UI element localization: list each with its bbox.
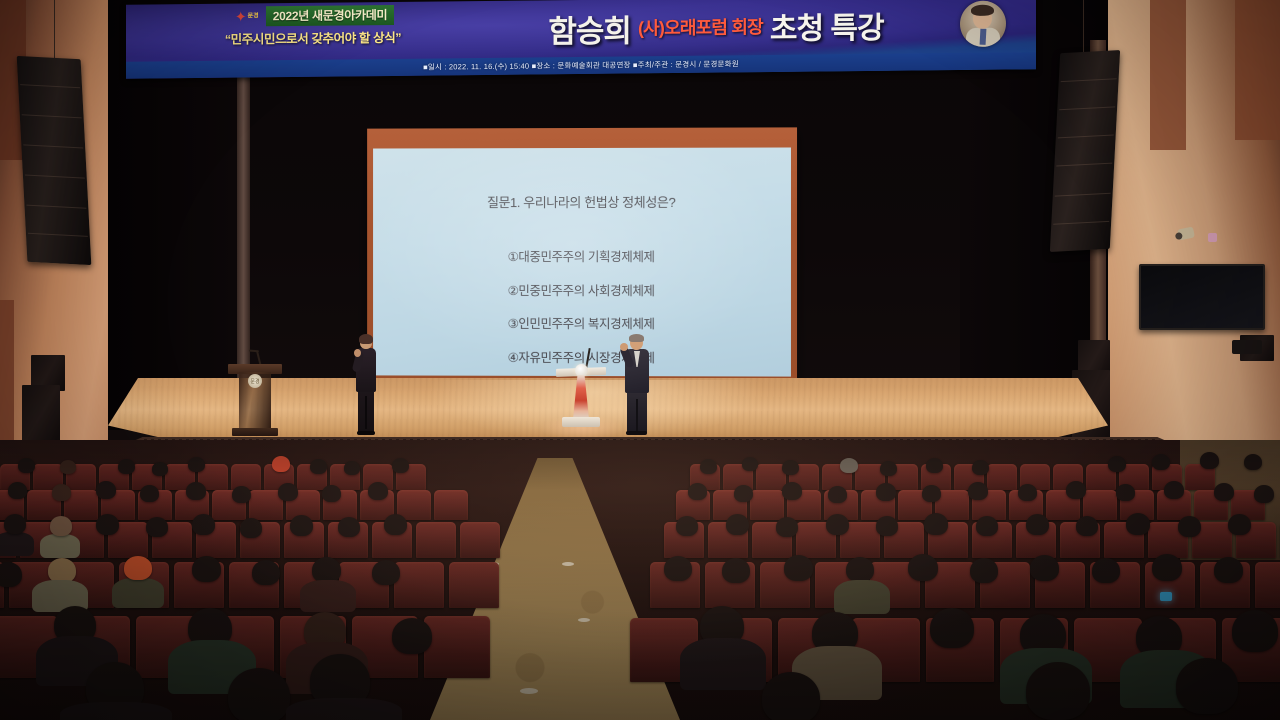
audience-head xyxy=(828,486,847,503)
audience-head xyxy=(688,483,707,500)
projection-screen-frame: 질문1. 우리나라의 헌법상 정체성은? ①대중민주주의 기획경제체제 ②민중민… xyxy=(367,127,797,380)
audience-head xyxy=(1126,513,1150,535)
lecture-hall-photo: ✦문경 2022년 새문경아카데미 “민주시민으로서 갖추어야 할 상식” 함승… xyxy=(0,0,1280,720)
audience-head xyxy=(1152,454,1170,470)
slide-option: ①대중민주주의 기획경제체제 xyxy=(508,246,655,265)
audience-head xyxy=(186,482,206,500)
audience-head xyxy=(930,608,974,648)
audience-head xyxy=(50,516,72,536)
audience-head xyxy=(908,554,938,581)
audience-head-foreground xyxy=(1176,658,1238,714)
event-banner: ✦문경 2022년 새문경아카데미 “민주시민으로서 갖추어야 할 상식” 함승… xyxy=(126,0,1036,79)
audience-head xyxy=(60,460,76,474)
audience-head xyxy=(1152,554,1182,581)
audience-head xyxy=(192,514,215,535)
audience-head xyxy=(976,516,998,536)
audience-head xyxy=(52,484,71,501)
audience-shoulders xyxy=(286,698,402,720)
slide-option-list: ①대중민주주의 기획경제체제 ②민중민주주의 사회경제체제 ③인민민주주의 복지… xyxy=(373,246,791,366)
banner-theme-quote: “민주시민으로서 갖추어야 할 상식” xyxy=(225,27,401,48)
speaker-portrait-photo xyxy=(960,1,1006,47)
banner-main-title: 함승희 (사)오래포럼 회장 초청 특강 xyxy=(476,0,956,55)
left-acoustic-panel-2 xyxy=(0,300,14,440)
audience-head-foreground xyxy=(762,672,820,720)
aisle-floor-marker xyxy=(578,618,590,622)
audience-head xyxy=(664,556,692,581)
right-acoustic-panel-1 xyxy=(1150,0,1186,150)
banner-event-kind: 초청 특강 xyxy=(770,3,884,48)
audience-head xyxy=(272,456,290,472)
audience-shoulders xyxy=(40,534,80,558)
audience-head xyxy=(96,481,116,499)
auditorium-seating xyxy=(0,440,1280,720)
audience-head xyxy=(826,514,849,535)
audience-head xyxy=(278,483,298,501)
sign-language-interpreter xyxy=(352,336,380,436)
audience-head xyxy=(922,485,941,502)
projection-screen: 질문1. 우리나라의 헌법상 정체성은? ①대중민주주의 기획경제체제 ②민중민… xyxy=(373,147,791,376)
audience-shoulders xyxy=(112,578,164,608)
audience-head xyxy=(1244,454,1262,470)
audience-head xyxy=(372,560,400,585)
audience-head xyxy=(188,457,205,472)
aisle-floor-marker xyxy=(562,562,574,566)
wooden-podium: 문경 xyxy=(228,352,282,438)
audience-head xyxy=(1254,485,1274,503)
audience-head xyxy=(880,461,897,476)
line-array-speaker-right xyxy=(1050,50,1120,252)
audience-head-foreground xyxy=(228,668,290,720)
wall-mounted-monitor xyxy=(1139,264,1265,330)
audience-head xyxy=(968,482,988,500)
slide-title: 질문1. 우리나라의 헌법상 정체성은? xyxy=(373,192,791,212)
audience-head xyxy=(1018,484,1037,501)
seat-row xyxy=(690,464,1215,490)
line-array-speaker-left xyxy=(17,56,92,265)
audience-head-foreground xyxy=(1026,662,1090,720)
audience-head xyxy=(972,460,989,475)
audience-head xyxy=(310,459,327,474)
audience-head xyxy=(1232,610,1278,652)
audience-head xyxy=(876,483,896,501)
audience-head xyxy=(18,458,35,473)
audience-head xyxy=(1108,456,1126,472)
audience-head xyxy=(1116,484,1135,501)
audience-head xyxy=(384,514,407,535)
audience-head xyxy=(1066,481,1086,499)
audience-shoulders xyxy=(834,580,890,614)
audience-head xyxy=(152,462,168,476)
audience-head xyxy=(926,458,943,473)
audience-head xyxy=(1076,516,1098,536)
audience-head xyxy=(734,485,753,502)
slide-option: ②민중민주주의 사회경제체제 xyxy=(508,279,655,298)
slide-option: ③인민민주주의 복지경제체제 xyxy=(508,313,655,332)
audience-head xyxy=(846,557,874,582)
audience-head xyxy=(368,482,388,500)
audience-head xyxy=(840,458,858,473)
audience-head xyxy=(0,562,22,587)
monitor-shelf-device xyxy=(1232,340,1262,354)
audience-head xyxy=(1092,558,1120,583)
audience-head xyxy=(252,560,280,585)
audience-head xyxy=(1214,483,1234,501)
audience-head xyxy=(4,514,26,534)
wall-fixture-icon xyxy=(1208,233,1217,242)
right-acoustic-panel-2 xyxy=(1235,0,1280,140)
audience-head xyxy=(1026,514,1049,535)
audience-head xyxy=(876,516,898,536)
audience-shoulders xyxy=(680,638,766,690)
audience-head xyxy=(1030,555,1059,581)
audience-head xyxy=(782,482,802,500)
audience-head xyxy=(232,486,251,503)
audience-head xyxy=(1214,557,1243,583)
audience-head xyxy=(1178,516,1201,537)
aisle-floor-marker xyxy=(520,688,538,694)
audience-head xyxy=(392,618,432,654)
audience-head xyxy=(322,485,341,502)
audience-head xyxy=(240,518,262,538)
audience-head xyxy=(96,514,119,535)
audience-head xyxy=(776,517,798,537)
banner-details-line: ■일시 : 2022. 11. 16.(수) 15:40 ■장소 : 문화예술회… xyxy=(423,58,739,72)
audience-head xyxy=(924,513,948,535)
audience-head xyxy=(290,515,313,536)
audience-head xyxy=(146,517,168,537)
audience-shoulders xyxy=(60,702,172,720)
audience-head xyxy=(1164,481,1184,499)
banner-program-label: 2022년 새문경아카데미 xyxy=(266,5,394,26)
audience-phone-screen xyxy=(1160,592,1172,601)
audience-shoulders xyxy=(0,532,34,556)
audience-head xyxy=(784,555,813,581)
banner-speaker-title: (사)오래포럼 회장 xyxy=(638,13,763,40)
audience-head xyxy=(118,459,135,474)
audience-head-with-hat xyxy=(124,556,152,580)
audience-head xyxy=(192,556,221,582)
podium-emblem: 문경 xyxy=(248,374,262,388)
lecturer-speaker xyxy=(620,336,654,436)
audience-head xyxy=(676,516,698,536)
audience-head xyxy=(392,458,409,473)
audience-head xyxy=(1200,452,1219,469)
audience-head xyxy=(700,459,717,474)
banner-left-block: ✦문경 2022년 새문경아카데미 “민주시민으로서 갖추어야 할 상식” xyxy=(148,4,478,48)
audience-head xyxy=(722,558,750,583)
audience-head xyxy=(1228,514,1251,535)
audience-head xyxy=(970,558,998,583)
audience-head xyxy=(782,460,799,475)
audience-shoulders xyxy=(300,580,356,612)
audience-head xyxy=(338,517,360,537)
banner-speaker-name: 함승희 xyxy=(548,5,631,51)
audience-head xyxy=(344,461,360,475)
audience-head xyxy=(742,457,758,471)
audience-head xyxy=(726,514,749,535)
center-lectern xyxy=(556,358,606,438)
audience-head xyxy=(8,482,27,499)
speaker-rigging-wire-right xyxy=(1083,0,1084,52)
floor-speaker-left-lower xyxy=(22,385,60,445)
municipal-logo-icon: ✦문경 xyxy=(232,8,262,25)
speaker-rigging-wire-left xyxy=(54,0,55,58)
audience-head xyxy=(140,485,159,502)
